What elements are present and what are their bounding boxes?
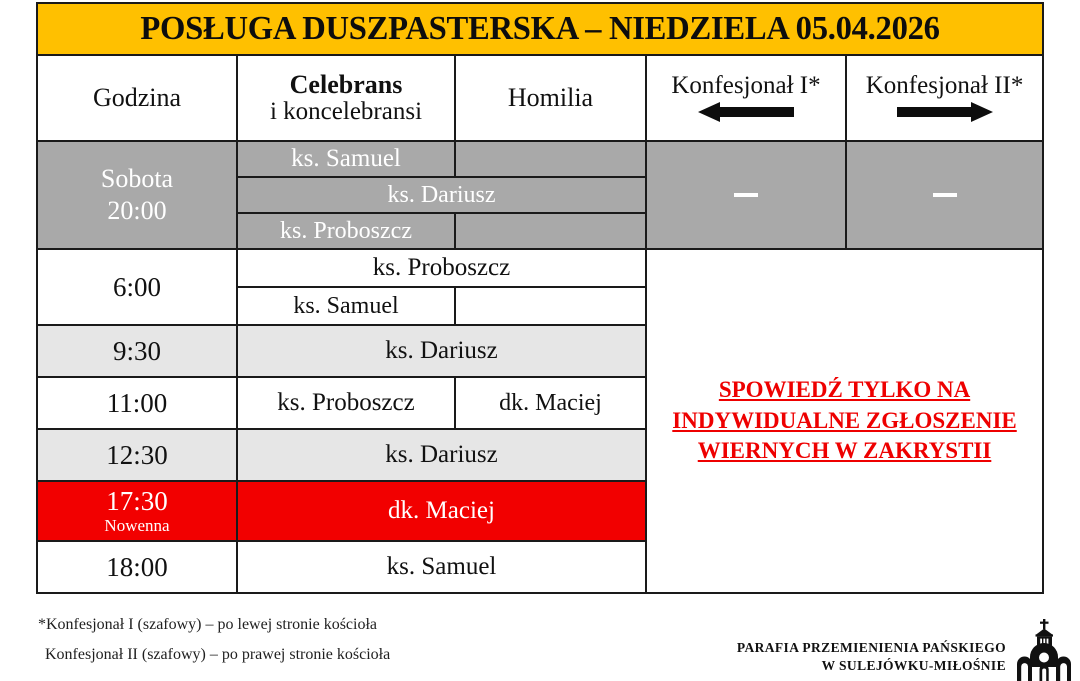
celebrant-saturday-2: ks. Dariusz xyxy=(237,177,646,213)
column-header-row: Godzina Celebrans i koncelebransi Homili… xyxy=(37,55,1043,141)
homilia-saturday-1 xyxy=(455,141,646,177)
konfesjonal-1-saturday xyxy=(646,141,846,249)
church-logo-icon xyxy=(1016,619,1072,681)
celebrant-1230: ks. Dariusz xyxy=(237,429,646,481)
celebrant-1730: dk. Maciej xyxy=(237,481,646,541)
parish-name-line2: W SULEJÓWKU-MIŁOŚNIE xyxy=(737,657,1006,675)
header-konfesjonal-2-label: Konfesjonał II* xyxy=(847,73,1042,98)
time-saturday-hour: 20:00 xyxy=(38,195,236,227)
time-1100: 11:00 xyxy=(37,377,237,429)
homilia-600 xyxy=(455,287,646,325)
time-1730-note: Nowenna xyxy=(38,517,236,535)
header-celebrans-line1: Celebrans xyxy=(238,71,454,99)
confession-note-cell: SPOWIEDŹ TYLKO NA INDYWIDUALNE ZGŁOSZENI… xyxy=(646,249,1043,593)
parish-brand: PARAFIA PRZEMIENIENIA PAŃSKIEGO W SULEJÓ… xyxy=(737,619,1072,681)
homilia-saturday-3 xyxy=(455,213,646,249)
confession-note: SPOWIEDŹ TYLKO NA INDYWIDUALNE ZGŁOSZENI… xyxy=(647,375,1042,466)
konfesjonal-2-saturday xyxy=(846,141,1043,249)
celebrant-1800: ks. Samuel xyxy=(237,541,646,593)
time-1730: 17:30 Nowenna xyxy=(37,481,237,541)
header-konfesjonal-2: Konfesjonał II* xyxy=(846,55,1043,141)
time-saturday: Sobota 20:00 xyxy=(37,141,237,249)
confession-note-line2: INDYWIDUALNE ZGŁOSZENIE xyxy=(655,406,1034,436)
right-arrow-icon xyxy=(847,102,1042,124)
footnote-konfesjonal-1: *Konfesjonał I (szafowy) – po lewej stro… xyxy=(38,610,390,640)
table-row-600-a: 6:00 ks. Proboszcz SPOWIEDŹ TYLKO NA IND… xyxy=(37,249,1043,287)
left-arrow-icon xyxy=(647,102,845,124)
celebrant-930: ks. Dariusz xyxy=(237,325,646,377)
celebrant-600-main: ks. Proboszcz xyxy=(237,249,646,287)
time-1230: 12:30 xyxy=(37,429,237,481)
time-saturday-day: Sobota xyxy=(38,163,236,195)
header-homilia: Homilia xyxy=(455,55,646,141)
celebrant-saturday-1: ks. Samuel xyxy=(237,141,455,177)
page-title: POSŁUGA DUSZPASTERSKA – NIEDZIELA 05.04.… xyxy=(58,6,1022,52)
homilia-1100: dk. Maciej xyxy=(455,377,646,429)
pastoral-schedule-table: POSŁUGA DUSZPASTERSKA – NIEDZIELA 05.04.… xyxy=(36,2,1044,594)
celebrant-1100: ks. Proboszcz xyxy=(237,377,455,429)
header-konfesjonal-1-label: Konfesjonał I* xyxy=(647,73,845,98)
time-930: 9:30 xyxy=(37,325,237,377)
table-row-saturday-a: Sobota 20:00 ks. Samuel xyxy=(37,141,1043,177)
parish-name-line1: PARAFIA PRZEMIENIENIA PAŃSKIEGO xyxy=(737,639,1006,657)
title-row: POSŁUGA DUSZPASTERSKA – NIEDZIELA 05.04.… xyxy=(37,3,1043,55)
time-600: 6:00 xyxy=(37,249,237,325)
footnote-konfesjonal-2: Konfesjonał II (szafowy) – po prawej str… xyxy=(38,640,390,670)
time-1800: 18:00 xyxy=(37,541,237,593)
celebrant-saturday-3: ks. Proboszcz xyxy=(237,213,455,249)
confession-note-line1: SPOWIEDŹ TYLKO NA xyxy=(655,375,1034,405)
dash-icon xyxy=(933,193,957,197)
header-celebrans: Celebrans i koncelebransi xyxy=(237,55,455,141)
schedule-sheet: POSŁUGA DUSZPASTERSKA – NIEDZIELA 05.04.… xyxy=(36,2,1042,594)
celebrant-600-sub: ks. Samuel xyxy=(237,287,455,325)
header-godzina: Godzina xyxy=(37,55,237,141)
header-konfesjonal-1: Konfesjonał I* xyxy=(646,55,846,141)
footnotes: *Konfesjonał I (szafowy) – po lewej stro… xyxy=(38,610,390,669)
confession-note-line3: WIERNYCH W ZAKRYSTII xyxy=(655,436,1034,466)
page-title-cell: POSŁUGA DUSZPASTERSKA – NIEDZIELA 05.04.… xyxy=(37,3,1043,55)
dash-icon xyxy=(734,193,758,197)
header-celebrans-line2: i koncelebransi xyxy=(238,99,454,126)
time-1730-value: 17:30 xyxy=(38,487,236,515)
